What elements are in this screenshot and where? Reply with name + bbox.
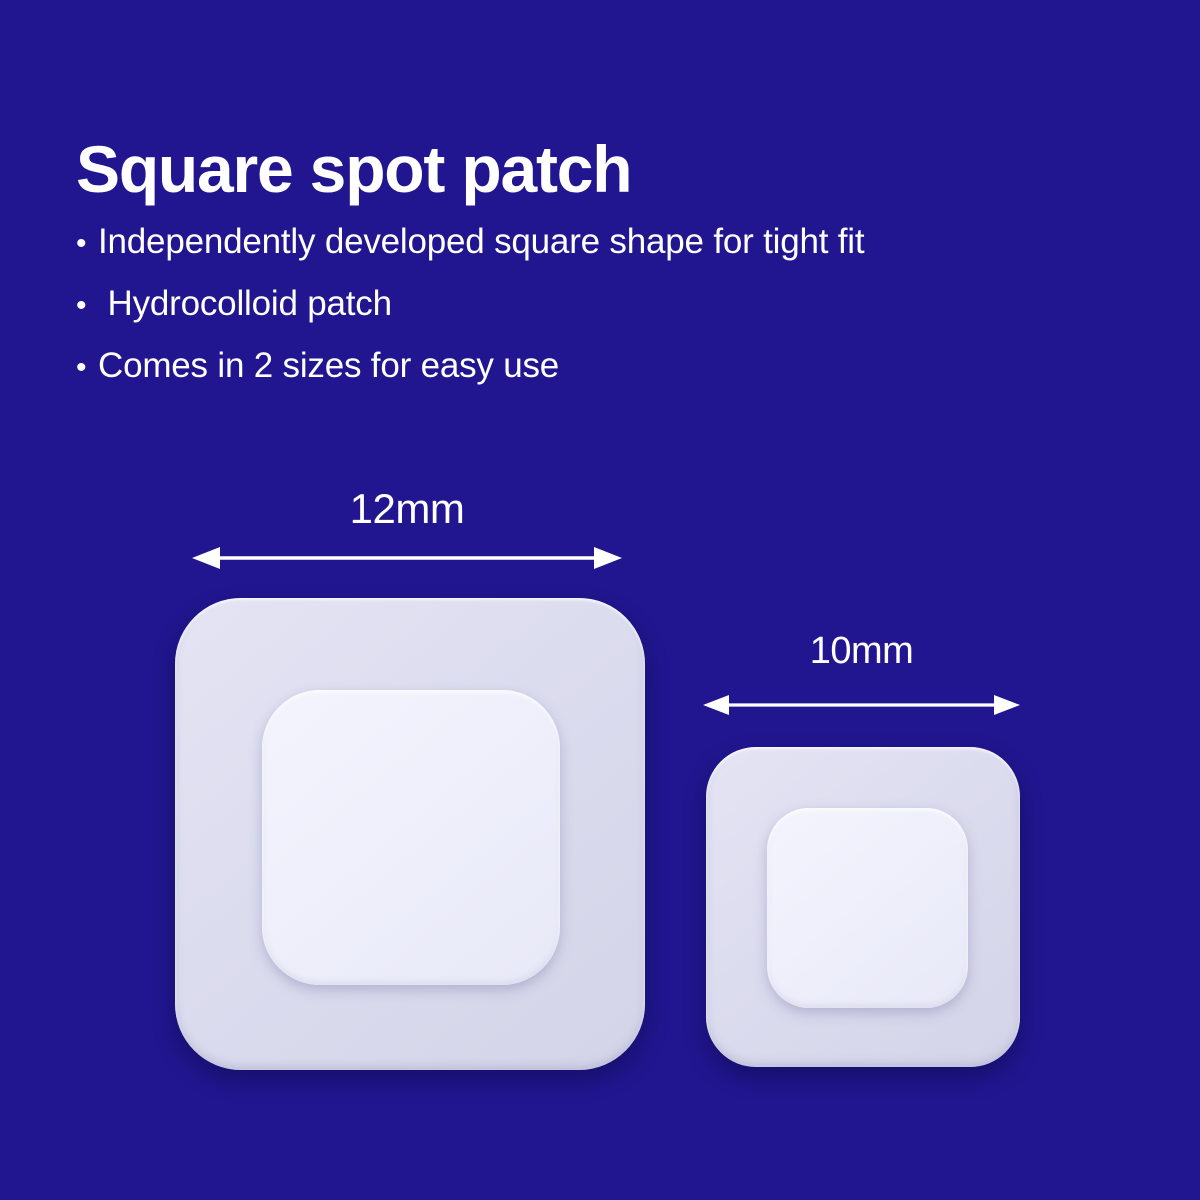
dimension-arrow-large-icon: [190, 546, 624, 570]
infographic-canvas: Square spot patch • Independently develo…: [0, 0, 1200, 1200]
bullet-dot-icon: •: [76, 338, 98, 398]
feature-text: Comes in 2 sizes for easy use: [98, 336, 559, 396]
product-patch-large-inner: [262, 690, 560, 985]
list-item: • Comes in 2 sizes for easy use: [76, 336, 864, 398]
dimension-label-large: 12mm: [192, 485, 622, 533]
bullet-dot-icon: •: [76, 276, 98, 336]
page-title: Square spot patch: [76, 136, 631, 202]
feature-text: Hydrocolloid patch: [98, 274, 392, 334]
list-item: • Hydrocolloid patch: [76, 274, 864, 336]
list-item: • Independently developed square shape f…: [76, 212, 864, 274]
product-patch-small: [706, 747, 1020, 1067]
dimension-arrow-small-icon: [701, 693, 1022, 717]
feature-text: Independently developed square shape for…: [98, 212, 864, 272]
feature-bullet-list: • Independently developed square shape f…: [76, 212, 864, 398]
bullet-dot-icon: •: [76, 214, 98, 274]
product-patch-large: [175, 598, 645, 1070]
product-patch-small-inner: [767, 808, 968, 1008]
dimension-label-small: 10mm: [703, 630, 1020, 673]
